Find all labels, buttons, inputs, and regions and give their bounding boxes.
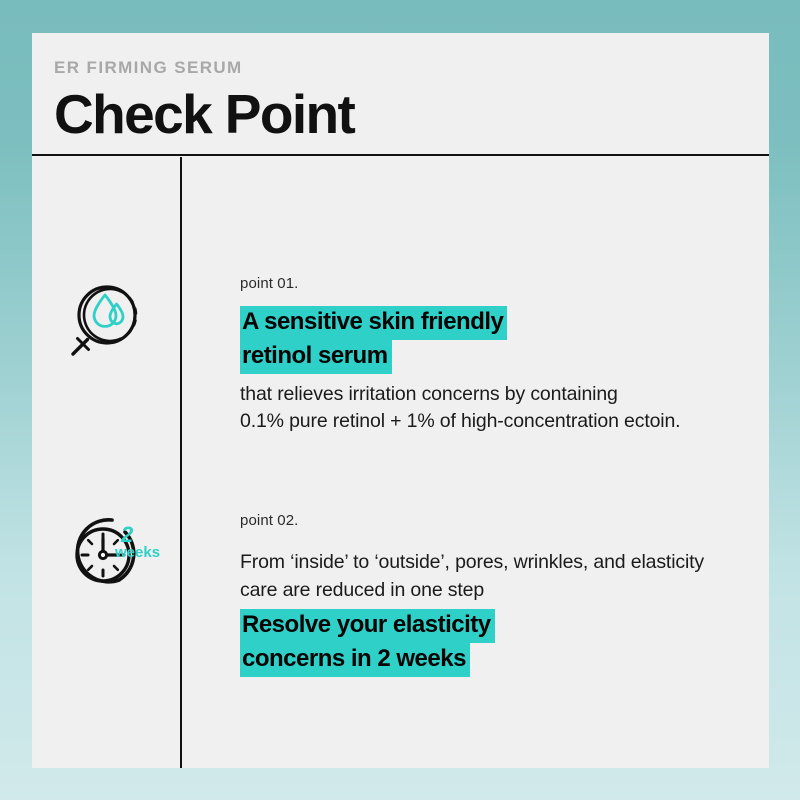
product-eyebrow-label: ER FIRMING SERUM <box>54 59 769 76</box>
clock-badge-unit: weeks <box>114 544 160 561</box>
header-divider <box>32 154 769 156</box>
point-01-body: that relieves irritation concerns by con… <box>240 381 680 436</box>
point-02-body: From ‘inside’ to ‘outside’, pores, wrink… <box>240 549 704 604</box>
point-02-body-line-2: care are reduced in one step <box>240 577 704 605</box>
card-body: 2 weeks point 01. A sensitive skin frien… <box>32 157 769 768</box>
magnifier-droplet-icon <box>62 277 150 370</box>
point-01-label: point 01. <box>240 275 680 292</box>
point-02-label: point 02. <box>240 512 704 529</box>
check-point-card: ER FIRMING SERUM Check Point <box>32 33 769 768</box>
point-01-headline: A sensitive skin friendly retinol serum <box>240 306 680 374</box>
card-header: ER FIRMING SERUM Check Point <box>32 33 769 157</box>
clock-two-weeks-icon: 2 weeks <box>57 514 161 601</box>
point-02-headline-line-1: Resolve your elasticity <box>240 609 495 643</box>
point-02-block: point 02. From ‘inside’ to ‘outside’, po… <box>240 512 704 677</box>
point-01-headline-line-1: A sensitive skin friendly <box>240 306 507 340</box>
point-02-headline-line-2: concerns in 2 weeks <box>240 643 470 677</box>
point-02-headline: Resolve your elasticity concerns in 2 we… <box>240 609 704 677</box>
text-column: point 01. A sensitive skin friendly reti… <box>182 157 769 768</box>
point-02-body-line-1: From ‘inside’ to ‘outside’, pores, wrink… <box>240 549 704 577</box>
icon-column: 2 weeks <box>32 157 180 768</box>
point-01-block: point 01. A sensitive skin friendly reti… <box>240 275 680 436</box>
point-01-body-line-1: that relieves irritation concerns by con… <box>240 381 680 409</box>
point-01-headline-line-2: retinol serum <box>240 340 392 374</box>
point-01-body-line-2: 0.1% pure retinol + 1% of high-concentra… <box>240 408 680 436</box>
page-title: Check Point <box>54 85 769 144</box>
